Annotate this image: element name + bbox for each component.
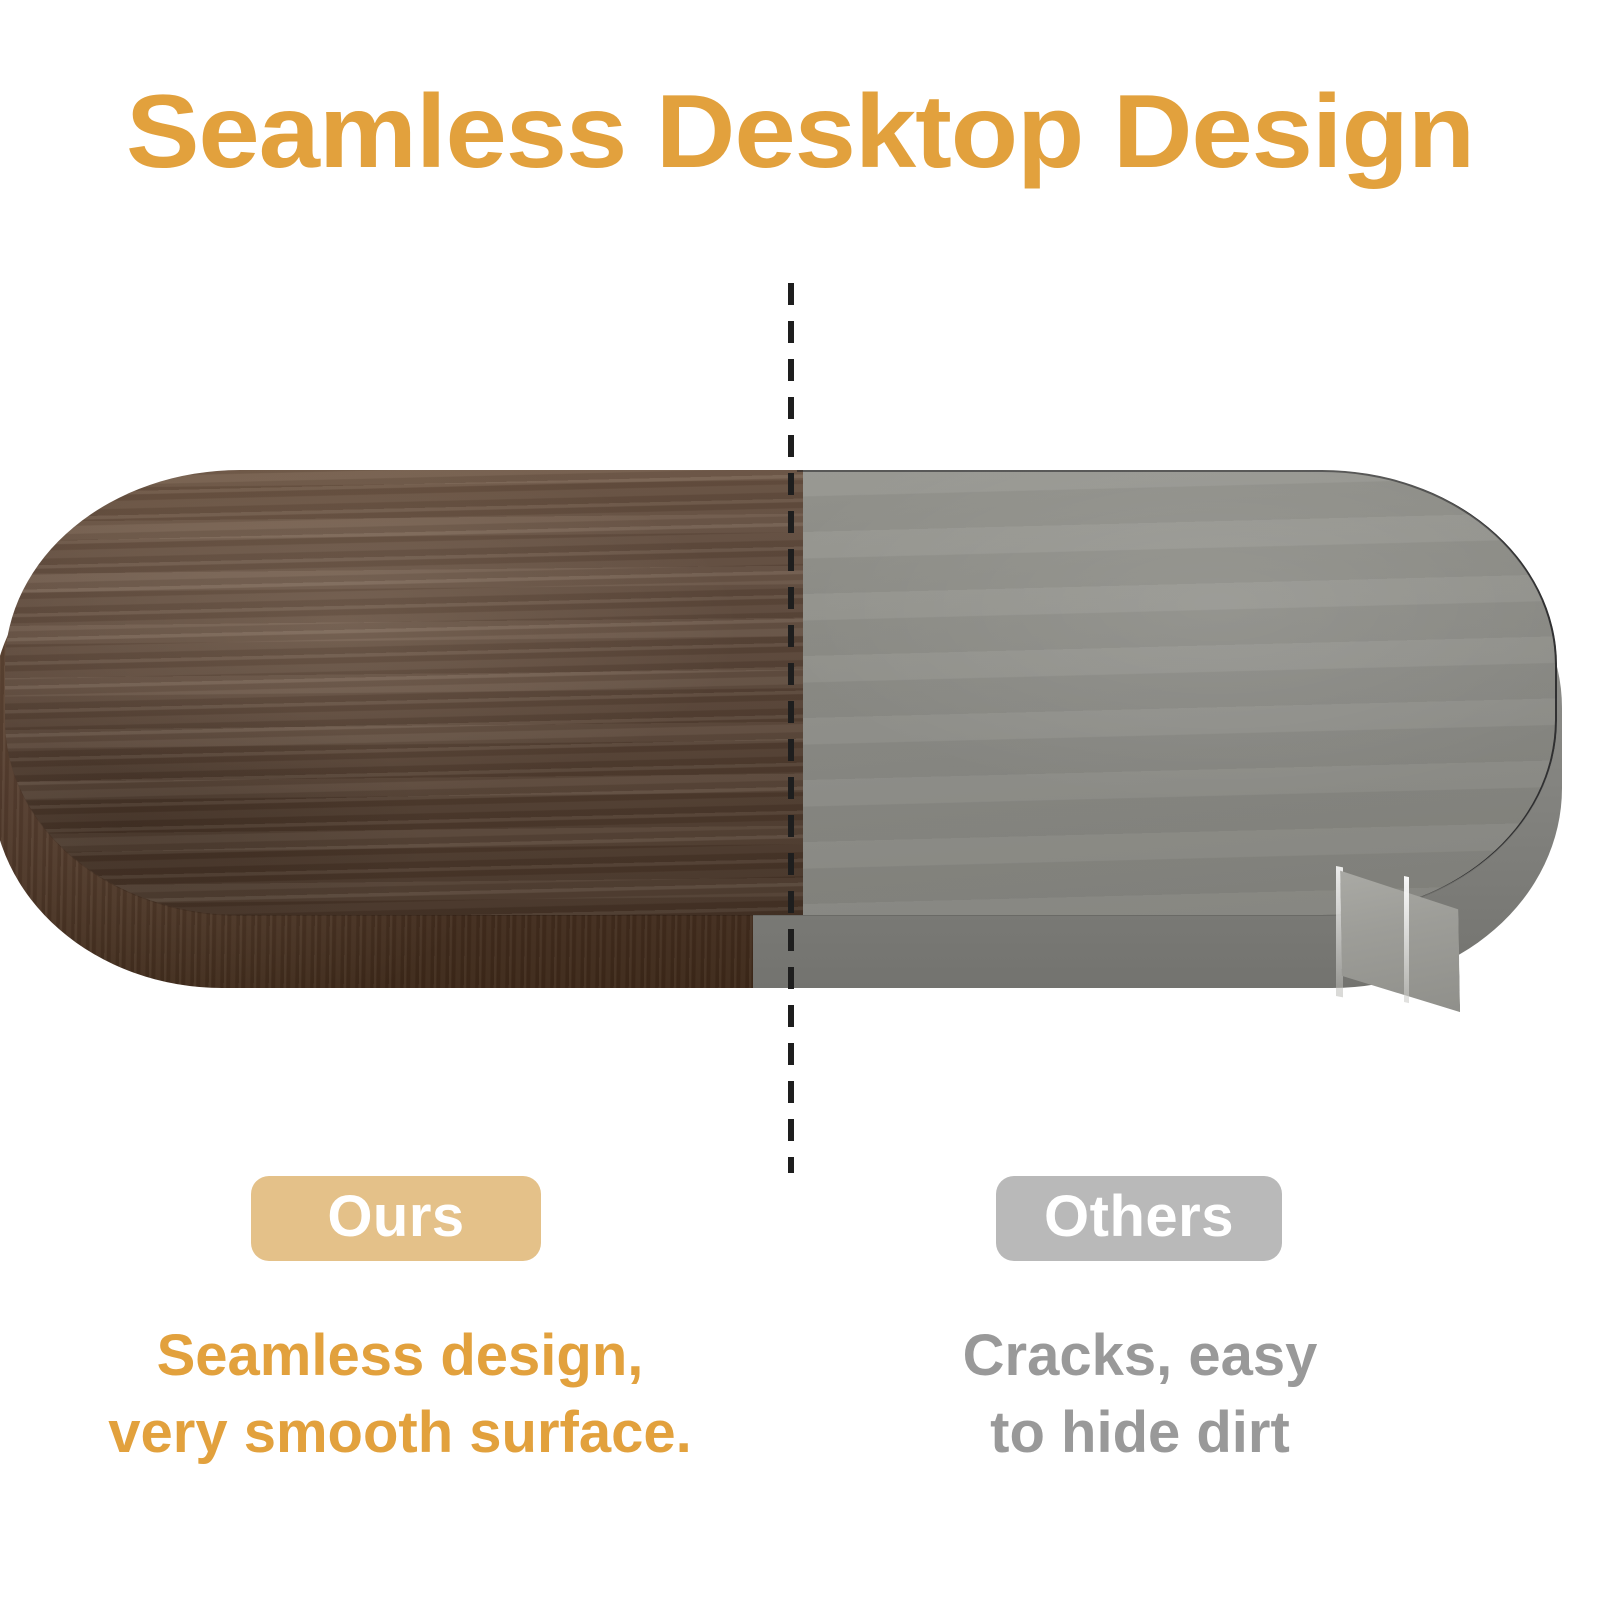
caption-ours: Seamless design, very smooth surface.	[60, 1318, 740, 1471]
caption-others: Cracks, easy to hide dirt	[855, 1318, 1425, 1471]
veneer-crack-gap	[1404, 876, 1409, 1003]
slab-top-gray-surface	[803, 470, 1557, 915]
badge-ours: Ours	[251, 1176, 541, 1261]
vertical-dashed-comparison-divider	[788, 283, 794, 1173]
slab-top-surface	[5, 470, 1557, 915]
badge-others: Others	[996, 1176, 1282, 1261]
slab-top-wood-surface	[5, 470, 803, 915]
